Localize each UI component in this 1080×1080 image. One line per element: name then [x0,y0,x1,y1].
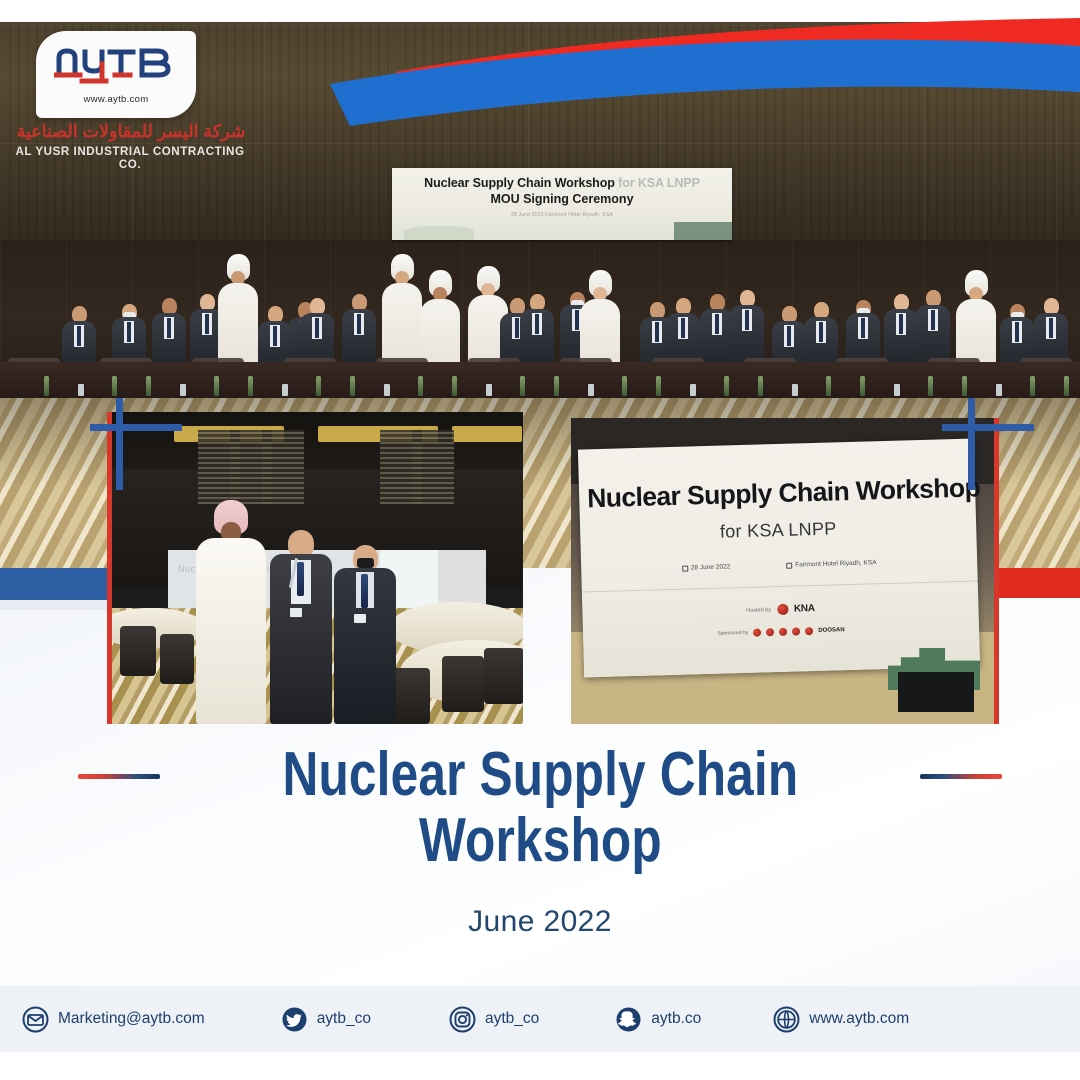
water-bottle [452,376,457,396]
footer-contact-item[interactable]: Marketing@aytb.com [22,1006,205,1033]
banquet-chair-1 [120,626,156,676]
contact-footer: Marketing@aytb.comaytb_coaytb_coaytb.cow… [0,986,1080,1052]
calendar-icon [682,565,688,571]
sign-sponsors-row: Sponsored by DOOSAN [583,622,979,641]
footer-contact-item[interactable]: aytb_co [281,1006,371,1033]
signage-equipment-case [898,672,974,712]
footer-contact-label: aytb_co [485,1010,539,1028]
water-glass [282,384,288,396]
water-bottle [112,376,117,396]
water-glass [384,384,390,396]
footer-contact-item[interactable]: aytb.co [615,1006,701,1033]
water-glass [588,384,594,396]
water-bottle [1064,376,1069,396]
water-bottle [656,376,661,396]
logo-website-text: www.aytb.com [84,94,149,105]
title-block: Nuclear Supply Chain Workshop [0,742,1080,873]
water-glass [996,384,1002,396]
email-icon[interactable] [22,1006,49,1033]
water-glass [78,384,84,396]
instagram-icon[interactable] [449,1006,476,1033]
twitter-icon[interactable] [281,1006,308,1033]
sponsor-logo-5 [805,627,813,635]
company-name-english: AL YUSR INDUSTRIAL CONTRACTING CO. [10,145,250,171]
stage-banner-line2: MOU Signing Ceremony [490,192,633,206]
sponsored-label: Sponsored by [717,630,748,637]
sign-venue: Fairmont Hotel Riyadh, KSA [795,559,876,568]
water-glass [894,384,900,396]
photo-event-signage[interactable]: Nuclear Supply Chain Workshop for KSA LN… [571,418,999,724]
water-bottle [350,376,355,396]
banquet-chair-5 [484,648,523,704]
figure-center-delegate [270,530,332,724]
footer-contact-label: www.aytb.com [809,1010,909,1028]
water-glass [690,384,696,396]
event-sign: Nuclear Supply Chain Workshop for KSA LN… [578,439,980,678]
sponsor-doosan-text: DOOSAN [818,627,845,634]
page-title: Nuclear Supply Chain Workshop [282,742,798,873]
water-bottle [316,376,321,396]
sign-date-item: 28 June 2022 [682,563,731,571]
banquet-chair-2 [160,634,194,684]
water-bottle [860,376,865,396]
company-name-arabic: شركة اليسر للمقاولات الصناعية [16,121,246,142]
footer-contact-label: Marketing@aytb.com [58,1010,205,1028]
sign-venue-item: Fairmont Hotel Riyadh, KSA [786,559,876,569]
poster-canvas: Nuclear Supply Chain Workshop for KSA LN… [0,0,1080,1080]
sign-title: Nuclear Supply Chain Workshop [587,472,980,514]
sign-hosted-row: Hosted by KNA [582,598,978,620]
stage-banner-line1-faded: for KSA LNPP [615,176,700,190]
sign-subtitle: for KSA LNPP [580,514,976,546]
stage-banner-decor-left [404,226,474,240]
water-glass [180,384,186,396]
figure-saudi-delegate [196,500,266,724]
water-bottle [962,376,967,396]
water-bottle [622,376,627,396]
aytb-logo-card[interactable]: www.aytb.com [36,31,196,118]
water-bottle [1030,376,1035,396]
sign-divider [582,580,978,592]
stage-banner-line1: Nuclear Supply Chain Workshop [424,176,615,190]
footer-contact-item[interactable]: aytb_co [449,1006,539,1033]
figure-masked-delegate [334,545,396,724]
water-bottle [826,376,831,396]
hosted-label: Hosted by [746,607,771,614]
table-bottles [0,372,1080,398]
water-glass [486,384,492,396]
snapchat-icon[interactable] [615,1006,642,1033]
kepco-logo-icon [777,604,788,615]
water-glass [792,384,798,396]
kna-logo-text: KNA [794,603,815,615]
water-bottle [146,376,151,396]
water-bottle [554,376,559,396]
sign-meta: 28 June 2022 Fairmont Hotel Riyadh, KSA [581,556,977,574]
title-dash-left [78,774,160,779]
sponsor-logo-3 [779,628,787,636]
water-bottle [928,376,933,396]
sponsor-logo-4 [792,627,800,635]
footer-contact-label: aytb_co [317,1010,371,1028]
stage-banner-line3: 28 June 2022 Fairmont Hotel Riyadh, KSA [511,212,613,218]
wall-panel-5 [412,430,454,504]
website-icon[interactable] [773,1006,800,1033]
sheet-red-accent-right [994,568,1080,598]
banquet-chair-4 [442,656,484,712]
title-dash-right [920,774,1002,779]
water-bottle [724,376,729,396]
page-subtitle: June 2022 [0,905,1080,939]
footer-contact-item[interactable]: www.aytb.com [773,1006,909,1033]
location-icon [786,562,792,568]
photo-handshake[interactable]: Nuclear Supply Chain Workshop [107,412,523,724]
water-bottle [44,376,49,396]
water-bottle [248,376,253,396]
wall-panel-3 [262,430,304,504]
footer-contact-label: aytb.co [651,1010,701,1028]
sign-date: 28 June 2022 [691,563,731,571]
water-bottle [418,376,423,396]
ceiling-light-3 [452,426,522,442]
sponsor-logo-2 [766,628,774,636]
water-bottle [758,376,763,396]
sponsor-logo-1 [753,629,761,637]
stage-banner-decor-right [674,222,732,240]
ballroom-ceiling [112,412,523,474]
sheet-blue-accent-left-lower [0,600,120,610]
water-bottle [520,376,525,396]
stage-banner: Nuclear Supply Chain Workshop for KSA LN… [392,168,732,240]
water-bottle [214,376,219,396]
aytb-wordmark-icon [54,44,178,90]
footer-white-strip [0,1052,1080,1080]
